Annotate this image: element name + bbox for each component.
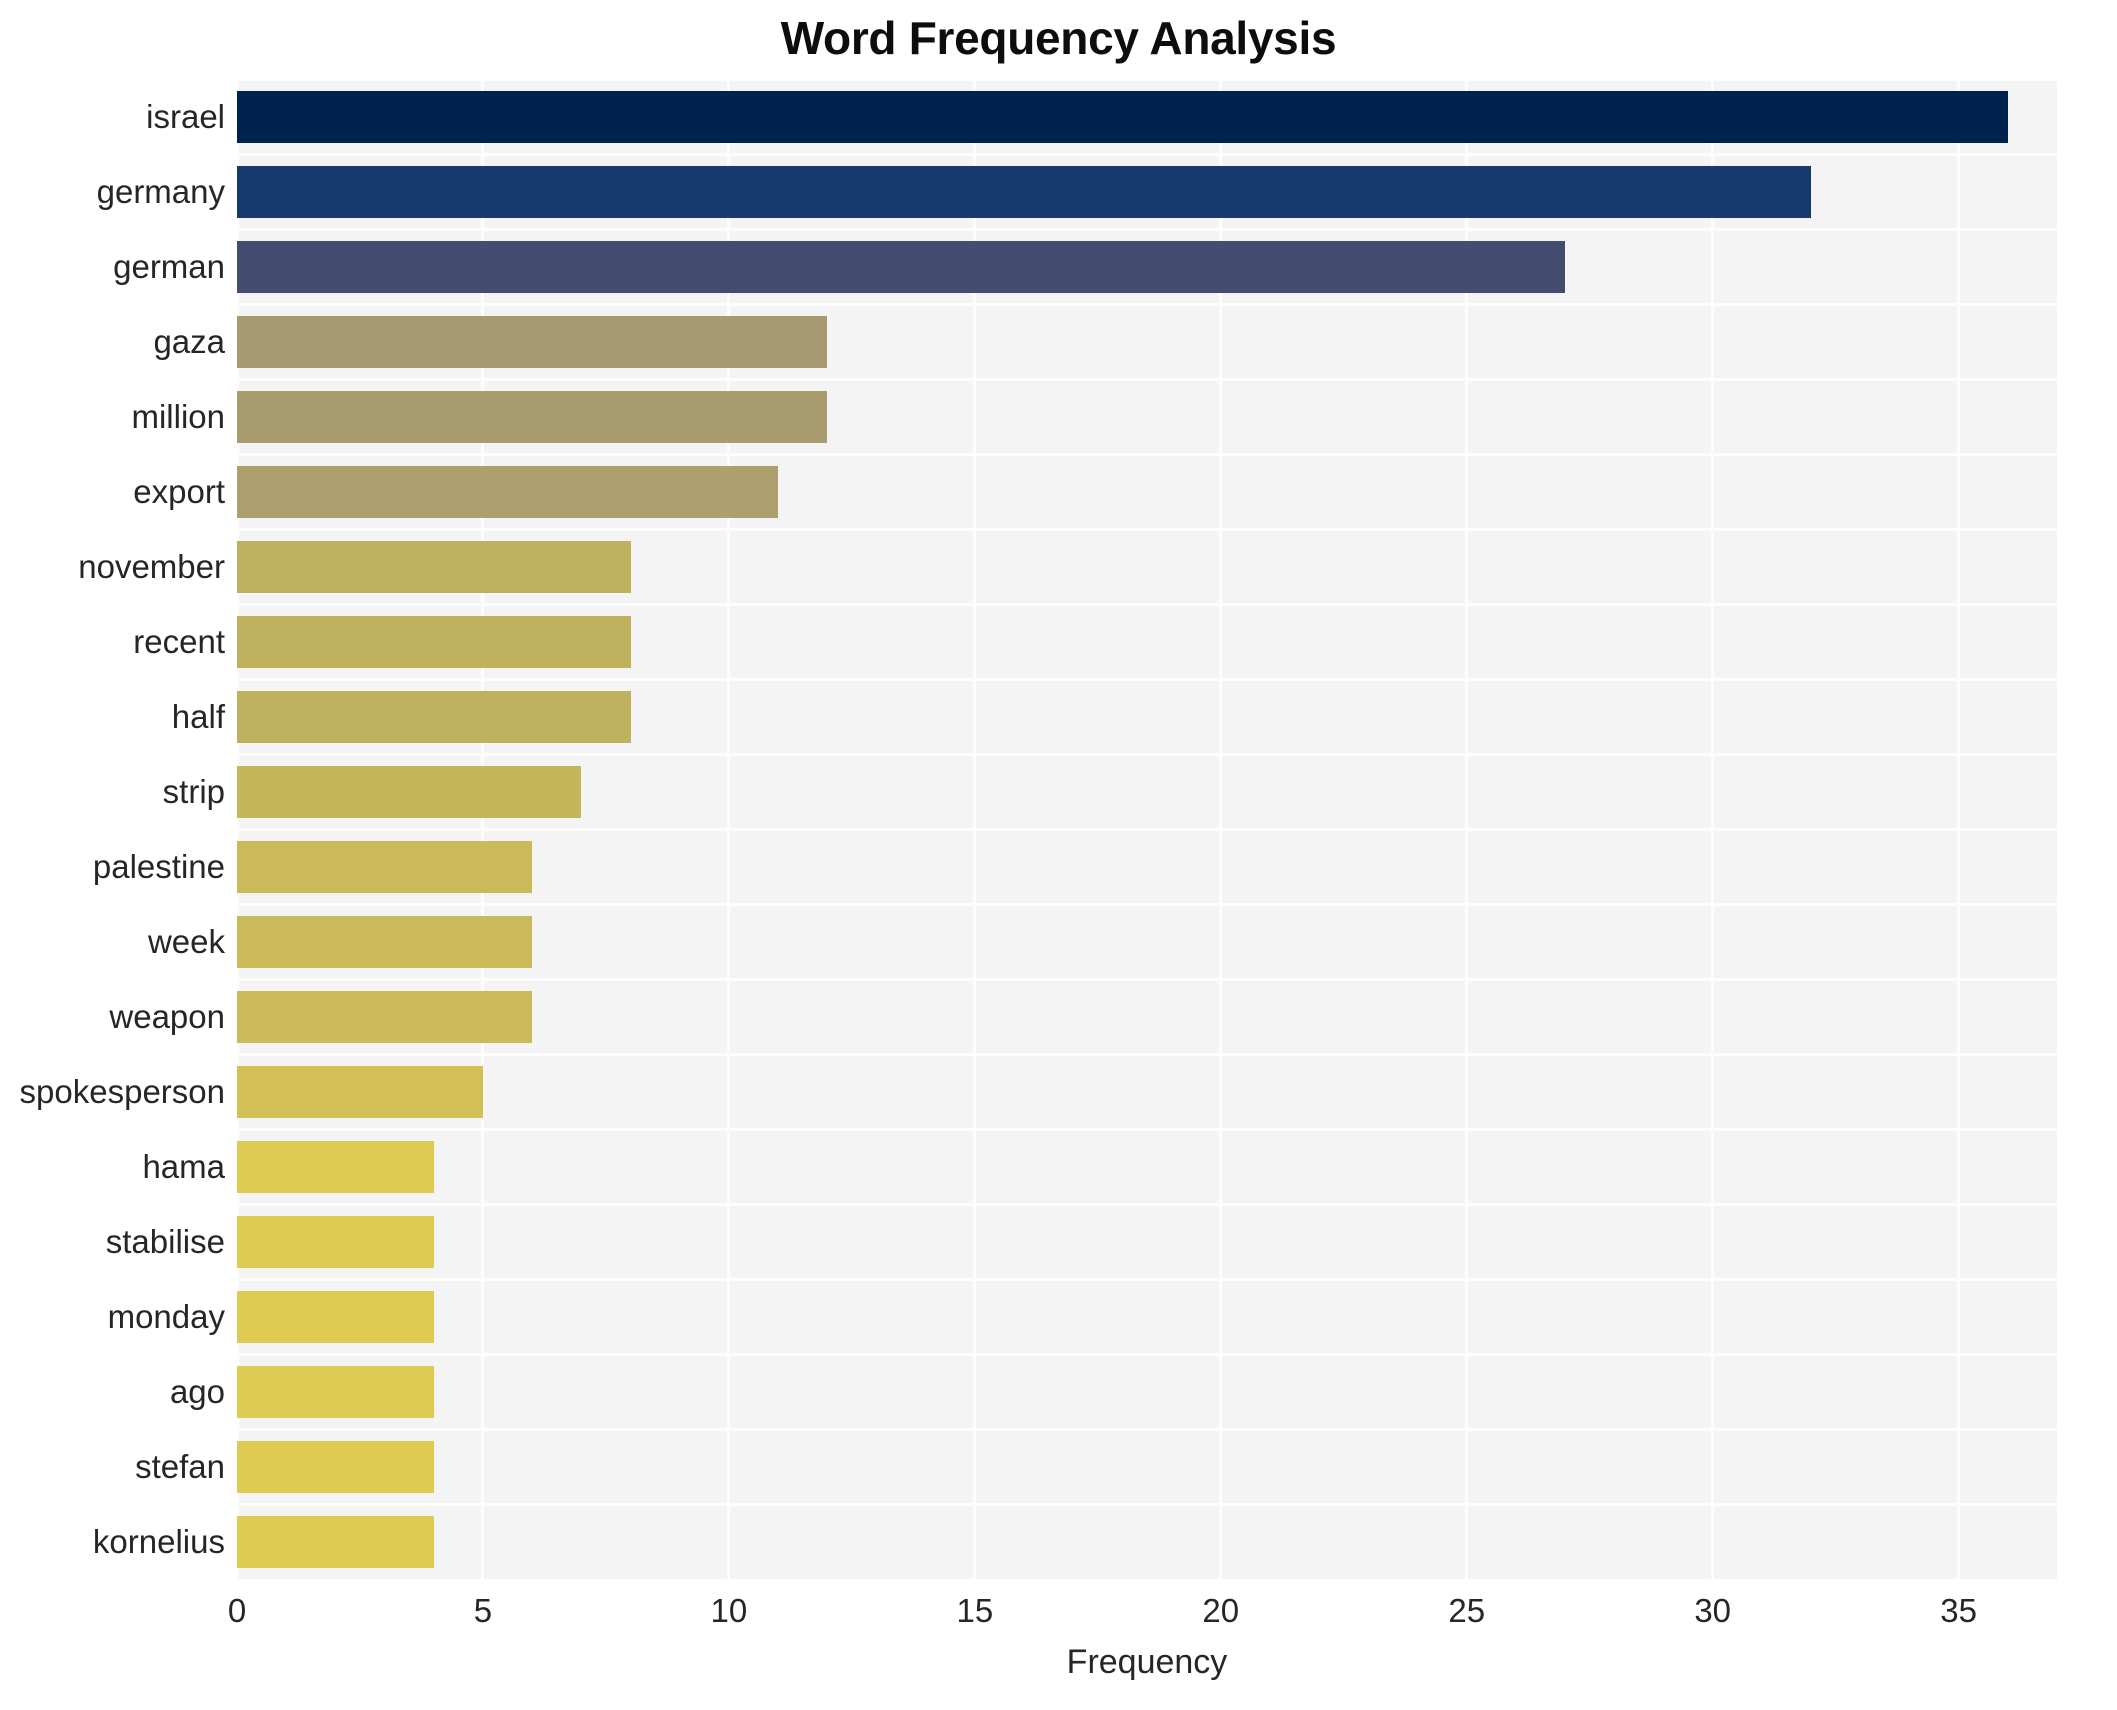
bar [237, 1516, 434, 1568]
y-axis-tick-label: german [0, 248, 225, 286]
bar [237, 1291, 434, 1343]
bar [237, 841, 532, 893]
y-axis-tick-label: gaza [0, 323, 225, 361]
bar [237, 916, 532, 968]
y-axis-tick-label: ago [0, 1373, 225, 1411]
bar [237, 616, 631, 668]
x-axis-tick-label: 5 [474, 1590, 492, 1632]
y-axis-tick-label: strip [0, 773, 225, 811]
bar [237, 316, 827, 368]
chart-title: Word Frequency Analysis [0, 8, 2117, 68]
y-axis-tick-label: million [0, 398, 225, 436]
bar [237, 166, 1811, 218]
y-axis-tick-label: stabilise [0, 1223, 225, 1261]
bar [237, 541, 631, 593]
bar [237, 391, 827, 443]
x-axis-tick-label: 15 [956, 1590, 993, 1632]
x-axis-title: Frequency [237, 1640, 2057, 1684]
y-axis-tick-label: week [0, 923, 225, 961]
bar [237, 91, 2008, 143]
bar [237, 1066, 483, 1118]
y-axis-tick-label: stefan [0, 1448, 225, 1486]
x-axis-tick-label: 30 [1694, 1590, 1731, 1632]
x-axis-tick-label: 0 [228, 1590, 246, 1632]
bar [237, 691, 631, 743]
y-axis-tick-label: november [0, 548, 225, 586]
bar [237, 991, 532, 1043]
x-axis-tick-label: 25 [1448, 1590, 1485, 1632]
y-axis-tick-label: germany [0, 173, 225, 211]
x-axis-tick-labels: 05101520253035 [237, 1590, 2057, 1640]
y-axis-tick-label: weapon [0, 998, 225, 1036]
y-axis-tick-labels: israelgermanygermangazamillionexportnove… [0, 79, 225, 1580]
bar [237, 1441, 434, 1493]
plot-area [237, 79, 2057, 1580]
y-axis-tick-label: kornelius [0, 1523, 225, 1561]
bar [237, 1366, 434, 1418]
bar [237, 466, 778, 518]
y-axis-tick-label: recent [0, 623, 225, 661]
y-axis-tick-label: hama [0, 1148, 225, 1186]
x-axis-tick-label: 10 [711, 1590, 748, 1632]
bars-container [237, 79, 2057, 1580]
bar [237, 241, 1565, 293]
word-frequency-chart-figure: Word Frequency Analysis israelgermanyger… [0, 0, 2117, 1710]
y-axis-tick-label: export [0, 473, 225, 511]
bar [237, 766, 581, 818]
x-axis-tick-label: 20 [1202, 1590, 1239, 1632]
bar [237, 1141, 434, 1193]
x-axis-tick-label: 35 [1940, 1590, 1977, 1632]
y-axis-tick-label: spokesperson [0, 1073, 225, 1111]
y-axis-tick-label: monday [0, 1298, 225, 1336]
bar [237, 1216, 434, 1268]
y-axis-tick-label: palestine [0, 848, 225, 886]
y-axis-tick-label: half [0, 698, 225, 736]
y-axis-tick-label: israel [0, 98, 225, 136]
